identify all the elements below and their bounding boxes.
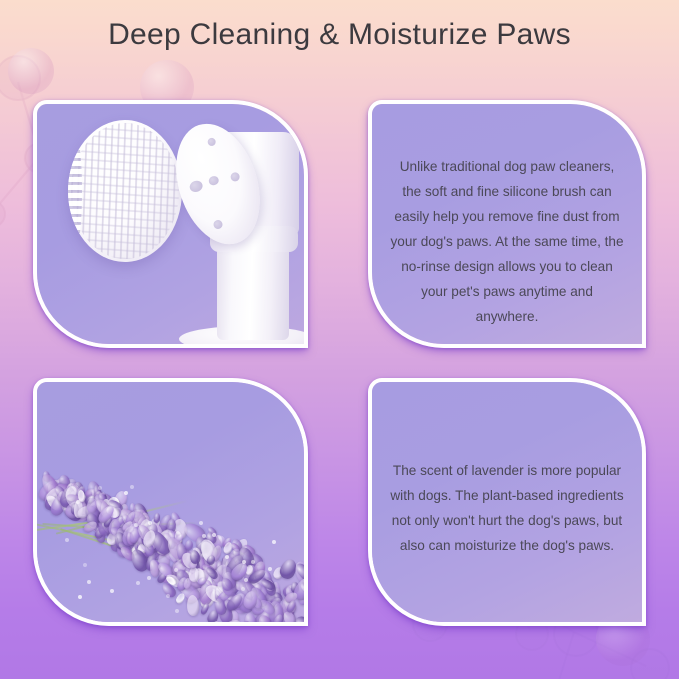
- lavender-floret: [153, 512, 161, 522]
- page-title: Deep Cleaning & Moisturize Paws: [0, 18, 679, 52]
- feature-text-1: Unlike traditional dog paw cleaners, the…: [372, 154, 642, 329]
- mount-hole-icon: [212, 219, 223, 230]
- mount-hole-icon: [208, 175, 220, 187]
- feature-text-panel-2: The scent of lavender is more popular wi…: [368, 378, 646, 626]
- lavender-highlight: [83, 563, 87, 567]
- lavender-image-panel: [33, 378, 308, 626]
- feature-text-panel-2-body: The scent of lavender is more popular wi…: [372, 382, 642, 622]
- lavender-highlight: [134, 523, 138, 527]
- lavender-highlight: [87, 580, 91, 584]
- lavender-highlight: [175, 609, 179, 613]
- lavender-highlight: [124, 491, 128, 495]
- lavender-highlight: [98, 486, 102, 490]
- lavender-highlight: [110, 589, 114, 593]
- feature-text-2: The scent of lavender is more popular wi…: [372, 458, 642, 558]
- lavender-highlight: [136, 581, 140, 585]
- lavender-highlight: [199, 521, 203, 525]
- product-image: [37, 104, 304, 344]
- lavender-image: [37, 382, 304, 622]
- silicone-brush-head-icon: [68, 120, 182, 262]
- paw-cleaner-device-icon: [177, 114, 304, 344]
- lavender-highlight: [65, 538, 69, 542]
- lavender-highlight: [212, 533, 216, 537]
- lavender-highlight: [78, 595, 82, 599]
- feature-text-panel-1-body: Unlike traditional dog paw cleaners, the…: [372, 104, 642, 344]
- product-infographic: Deep Cleaning & Moisturize Paws: [0, 0, 679, 679]
- lavender-highlight: [244, 578, 248, 582]
- lavender-highlight: [147, 576, 151, 580]
- mount-hole-icon: [229, 171, 240, 182]
- product-image-panel: [33, 100, 308, 348]
- mount-hole-icon: [207, 137, 217, 147]
- lavender-highlight: [268, 567, 272, 571]
- page-title-container: Deep Cleaning & Moisturize Paws: [0, 18, 679, 52]
- lavender-highlight: [272, 540, 276, 544]
- mount-hole-icon: [188, 179, 204, 193]
- lavender-highlight: [174, 568, 178, 572]
- lavender-bouquet-icon: [37, 382, 304, 622]
- feature-text-panel-1: Unlike traditional dog paw cleaners, the…: [368, 100, 646, 348]
- bubble-icon: [8, 48, 54, 94]
- lavender-highlight: [130, 485, 134, 489]
